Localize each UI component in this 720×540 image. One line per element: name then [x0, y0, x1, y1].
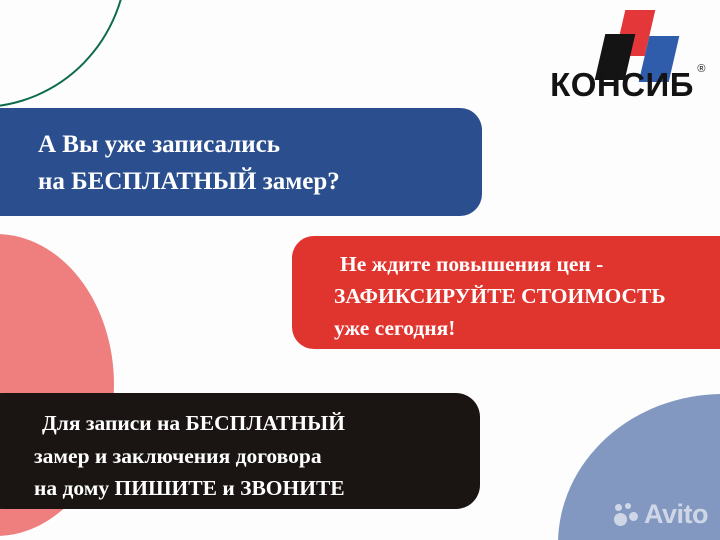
- avito-dots-icon: [614, 503, 640, 527]
- logo-mark-group: [586, 8, 706, 70]
- banner-red-line-1: Не ждите повышения цен -: [334, 248, 720, 280]
- registered-trademark-icon: ®: [697, 64, 706, 75]
- logo-wordmark: КОНСИБ ®: [550, 68, 706, 101]
- banner-red-urgency: Не ждите повышения цен - ЗАФИКСИРУЙТЕ СТ…: [292, 236, 720, 349]
- banner-blue-question: А Вы уже записались на БЕСПЛАТНЫЙ замер?: [0, 108, 482, 216]
- logo-wordmark-text: КОНСИБ: [550, 66, 694, 103]
- banner-black-line-2: замер и заключения договора: [34, 440, 480, 473]
- banner-black-line-1: Для записи на БЕСПЛАТНЫЙ: [34, 407, 480, 440]
- banner-blue-line-1: А Вы уже записались: [38, 126, 482, 163]
- green-ring-outline-shape: [0, 0, 128, 108]
- banner-blue-line-2: на БЕСПЛАТНЫЙ замер?: [38, 163, 482, 200]
- banner-black-call-to-action: Для записи на БЕСПЛАТНЫЙ замер и заключе…: [0, 393, 480, 509]
- banner-black-line-3: на дому ПИШИТЕ и ЗВОНИТЕ: [34, 472, 480, 505]
- avito-watermark-label: Avito: [644, 501, 708, 528]
- konsib-logo: КОНСИБ ®: [550, 8, 706, 101]
- banner-red-line-3: уже сегодня!: [334, 312, 720, 344]
- avito-watermark: Avito: [614, 501, 708, 528]
- promo-poster: КОНСИБ ® А Вы уже записались на БЕСПЛАТН…: [0, 0, 720, 540]
- banner-red-line-2: ЗАФИКСИРУЙТЕ СТОИМОСТЬ: [334, 280, 720, 312]
